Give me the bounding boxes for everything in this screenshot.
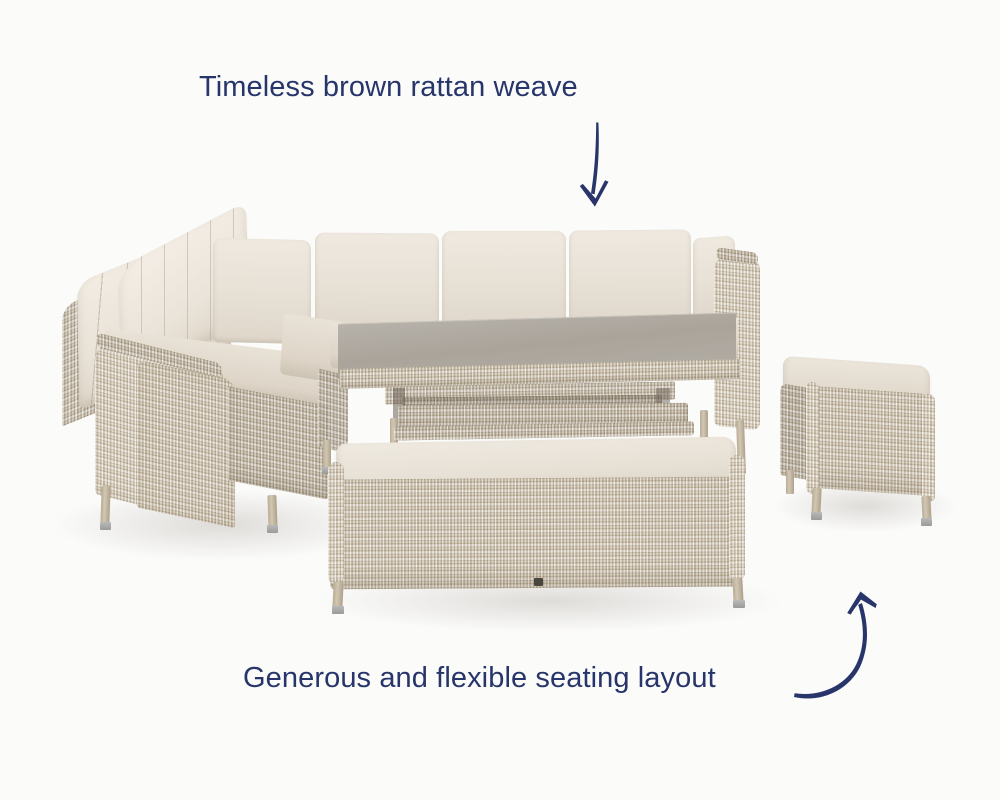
bench-body — [330, 477, 742, 590]
curved-up-left-arrow-icon — [788, 575, 898, 710]
product-image-stage: Timeless brown rattan weave Generous and… — [0, 0, 1000, 800]
stool-corner-piping-right — [922, 393, 935, 502]
sofa-leg-front-left — [100, 486, 110, 526]
bench-corner-piping-right — [729, 455, 745, 581]
sofa-left-arm-front-face — [137, 360, 235, 529]
sofa-foot-front-right — [267, 525, 278, 533]
sofa-foot-front-left — [100, 522, 111, 530]
bench-corner-piping-left — [328, 462, 344, 584]
bench-foot-front-left — [332, 606, 344, 614]
down-arrow-icon — [560, 110, 650, 220]
stool-corner-piping — [806, 381, 819, 494]
stool-foot-right — [921, 518, 932, 526]
stool-foot-left — [811, 512, 822, 520]
annotation-text-top: Timeless brown rattan weave — [199, 72, 578, 104]
sofa-front-skirt — [228, 386, 328, 499]
stool-leg-rear-left — [786, 470, 794, 494]
bench-latch-icon — [534, 578, 543, 586]
bench-foot-front-right — [733, 600, 745, 608]
sofa-leg-front-right — [267, 495, 277, 529]
annotation-text-bottom: Generous and flexible seating layout — [243, 663, 716, 695]
stool-front-face — [810, 386, 932, 497]
